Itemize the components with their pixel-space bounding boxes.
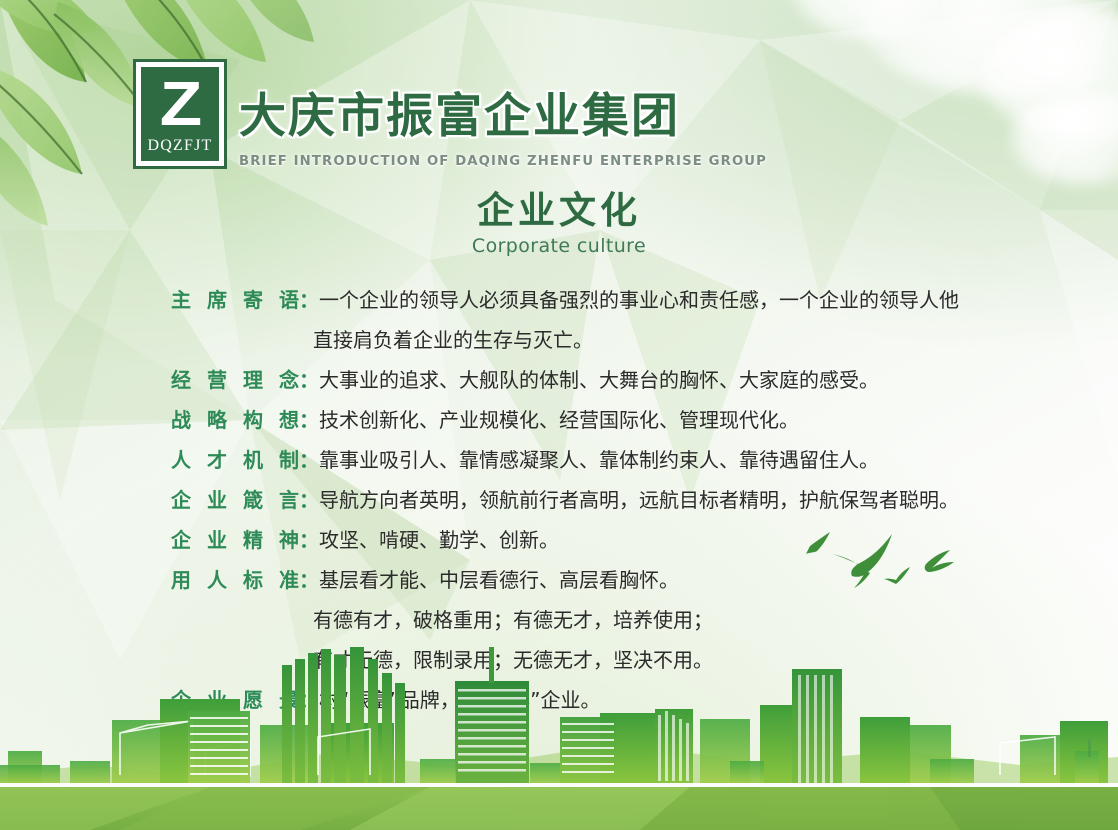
flying-birds-icon: [800, 524, 980, 594]
culture-row-text: 导航方向者英明，领航前行者高明，远航目标者精明，护航保驾者聪明。: [319, 483, 1001, 518]
culture-row-label: 经营理念: [171, 363, 299, 398]
culture-row-line: 大事业的追求、大舰队的体制、大舞台的胸怀、大家庭的感受。: [319, 363, 1001, 398]
company-logo: Z DQZFJT: [133, 59, 227, 169]
culture-row-text: 直接肩负着企业的生存与灭亡。: [313, 323, 1001, 358]
culture-row-colon: ：: [299, 403, 319, 438]
culture-row: 主席寄语：一个企业的领导人必须具备强烈的事业心和责任感，一个企业的领导人他: [171, 283, 1001, 318]
culture-row-colon: ：: [299, 523, 319, 558]
company-name: 大庆市振富企业集团: [239, 93, 680, 140]
culture-row-label: 战略构想: [171, 403, 299, 438]
logo-letter-z: Z: [159, 74, 200, 136]
culture-row-line: 技术创新化、产业规模化、经营国际化、管理现代化。: [319, 403, 1001, 438]
culture-row-text: 一个企业的领导人必须具备强烈的事业心和责任感，一个企业的领导人他: [319, 283, 1001, 318]
culture-row-line: 一个企业的领导人必须具备强烈的事业心和责任感，一个企业的领导人他: [319, 283, 1001, 318]
culture-row-text: 靠事业吸引人、靠情感凝聚人、靠体制约束人、靠待遇留住人。: [319, 443, 1001, 478]
culture-row-line: 靠事业吸引人、靠情感凝聚人、靠体制约束人、靠待遇留住人。: [319, 443, 1001, 478]
culture-row: 战略构想：技术创新化、产业规模化、经营国际化、管理现代化。: [171, 403, 1001, 438]
section-title: 企业文化: [0, 192, 1118, 229]
culture-row-text: 大事业的追求、大舰队的体制、大舞台的胸怀、大家庭的感受。: [319, 363, 1001, 398]
culture-row-label: 企业箴言: [171, 483, 299, 518]
culture-row: 人才机制：靠事业吸引人、靠情感凝聚人、靠体制约束人、靠待遇留住人。: [171, 443, 1001, 478]
culture-row-colon: ：: [299, 443, 319, 478]
culture-row-label: 主席寄语: [171, 283, 299, 318]
culture-row-colon: ：: [299, 563, 319, 598]
culture-row: 经营理念：大事业的追求、大舰队的体制、大舞台的胸怀、大家庭的感受。: [171, 363, 1001, 398]
culture-row-colon: ：: [299, 483, 319, 518]
culture-row-line: 直接肩负着企业的生存与灭亡。: [313, 323, 1001, 358]
culture-row-colon: ：: [299, 283, 319, 318]
city-skyline-silhouette: [0, 625, 1118, 830]
culture-row-label: 用人标准: [171, 563, 299, 598]
culture-row-label: 企业精神: [171, 523, 299, 558]
culture-row-colon: ：: [299, 363, 319, 398]
poster-canvas: Z DQZFJT 大庆市振富企业集团 BRIEF INTRODUCTION OF…: [0, 0, 1118, 830]
logo-inner-panel: Z DQZFJT: [141, 67, 219, 161]
section-subtitle: Corporate culture: [0, 237, 1118, 256]
culture-row: 企业箴言：导航方向者英明，领航前行者高明，远航目标者精明，护航保驾者聪明。: [171, 483, 1001, 518]
culture-row-label: 人才机制: [171, 443, 299, 478]
logo-abbreviation: DQZFJT: [148, 137, 213, 155]
company-subtitle: BRIEF INTRODUCTION OF DAQING ZHENFU ENTE…: [239, 154, 767, 169]
culture-row-text: 技术创新化、产业规模化、经营国际化、管理现代化。: [319, 403, 1001, 438]
culture-row-continuation: 直接肩负着企业的生存与灭亡。: [171, 323, 1001, 358]
culture-row-line: 导航方向者英明，领航前行者高明，远航目标者精明，护航保驾者聪明。: [319, 483, 1001, 518]
